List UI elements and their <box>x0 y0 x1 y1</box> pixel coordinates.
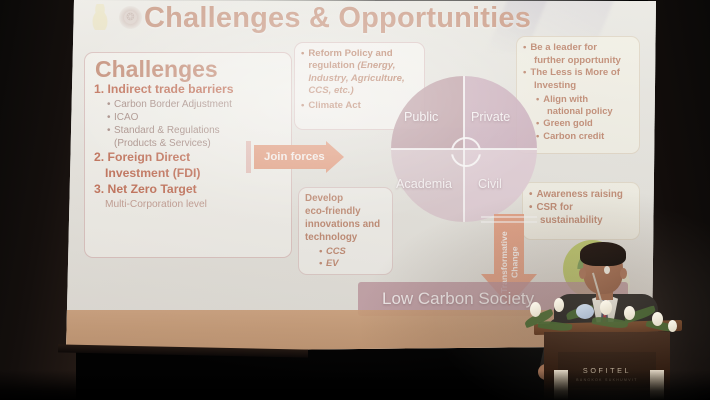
reform-bullet-2-text: Climate Act <box>308 100 360 112</box>
challenge-1-sub-3: •Standard & Regulations <box>107 124 285 137</box>
leaf <box>591 315 628 330</box>
challenge-1-sub-2: •ICAO <box>107 111 285 124</box>
royal-garuda-emblem-icon <box>88 4 112 30</box>
bullet-dot: • <box>107 124 114 137</box>
develop-line-1: Develop <box>305 193 386 206</box>
leader-sub-3-text: Carbon credit <box>543 130 604 142</box>
join-forces-label: Join forces <box>264 151 325 163</box>
awareness-bullet-2: • CSR for <box>529 201 633 214</box>
develop-card: Develop eco-friendly innovations and tec… <box>298 187 393 275</box>
flower-bloom <box>668 320 677 332</box>
flower-bloom <box>624 306 635 320</box>
bullet-dot: • <box>301 100 304 112</box>
low-carbon-society-label: Low Carbon Society <box>382 289 534 309</box>
flower-bloom-blue <box>576 304 594 319</box>
develop-line-3: innovations and <box>305 219 386 232</box>
speaker-ear-left <box>579 268 586 279</box>
leader-bullet-1-text: Be a leader for <box>530 42 597 55</box>
develop-bullet-1: •CCS <box>319 245 386 258</box>
wheel-label-civil: Civil <box>478 177 502 191</box>
leader-sub-1-cont: national policy <box>547 105 633 117</box>
wheel-label-public: Public <box>404 110 438 124</box>
wheel-label-academia: Academia <box>396 177 452 191</box>
ministry-emblem-icon: ❂ <box>119 6 142 29</box>
leader-bullet-2-text: The Less is More of <box>530 67 620 80</box>
challenge-item-1: 1. Indirect trade barriers <box>94 82 285 98</box>
develop-bullet-2: •EV <box>319 257 386 270</box>
speaker-ear-right <box>620 268 627 279</box>
bullet-dot: • <box>107 111 114 124</box>
awareness-bullet-2-cont: sustainability <box>540 214 633 227</box>
leader-bullet-1: • Be a leader for <box>523 42 633 55</box>
flower-bloom <box>554 298 564 312</box>
speaker-hair <box>580 242 626 266</box>
bullet-dot: • <box>523 42 526 55</box>
leaf <box>538 320 573 333</box>
leader-sub-1: • Align with <box>536 93 633 105</box>
left-curtain <box>0 0 76 400</box>
arrow-stripe-1 <box>481 216 537 218</box>
reform-bullet-1-cont: regulation <box>308 60 357 71</box>
leader-sub-2-text: Green gold <box>543 117 592 129</box>
bullet-dot: • <box>319 257 326 270</box>
wheel-label-private: Private <box>471 110 510 124</box>
leader-bullet-2-cont: Investing <box>534 80 633 93</box>
bullet-dot: • <box>319 245 326 258</box>
awareness-bullet-1: • Awareness raising <box>529 188 633 201</box>
leader-sub-1-text: Align with <box>543 93 588 105</box>
develop-line-4: technology <box>305 232 386 245</box>
cycle-arrows-icon <box>451 137 477 163</box>
flower-arrangement <box>520 294 690 342</box>
awareness-bullet-1-text: Awareness raising <box>536 188 622 201</box>
flower-bloom <box>652 312 663 326</box>
bullet-dot: • <box>107 98 114 111</box>
develop-line-2: eco-friendly <box>305 206 386 219</box>
reform-bullet-1-text: Reform Policy and <box>308 48 392 59</box>
awareness-bullet-2-text: CSR for <box>536 201 572 214</box>
leader-sub-3: • Carbon credit <box>536 130 633 142</box>
slide-title: Challenges & Opportunities <box>144 2 531 35</box>
flower-bloom <box>530 302 541 317</box>
challenge-item-3: 3. Net Zero Target <box>94 182 285 198</box>
join-forces-arrow-tail <box>246 141 251 173</box>
challenge-1-sub-1: •Carbon Border Adjustment <box>107 98 285 111</box>
leader-sub-2: • Green gold <box>536 117 633 129</box>
challenge-item-3-note: Multi-Corporation level <box>105 198 285 211</box>
leader-bullet-2: • The Less is More of <box>523 67 633 80</box>
flower-bloom <box>600 300 612 315</box>
photo-scene: ❂ Challenges & Opportunities Challenges … <box>0 0 710 400</box>
leader-bullet-1-cont: further opportunity <box>534 55 633 68</box>
microphone-head <box>604 266 610 274</box>
join-forces-arrow: Join forces <box>254 141 344 173</box>
slide-logos: ❂ <box>88 4 142 30</box>
stage-floor-shadow <box>0 370 710 400</box>
challenges-heading: Challenges <box>95 57 285 81</box>
bullet-dot: • <box>301 48 304 98</box>
